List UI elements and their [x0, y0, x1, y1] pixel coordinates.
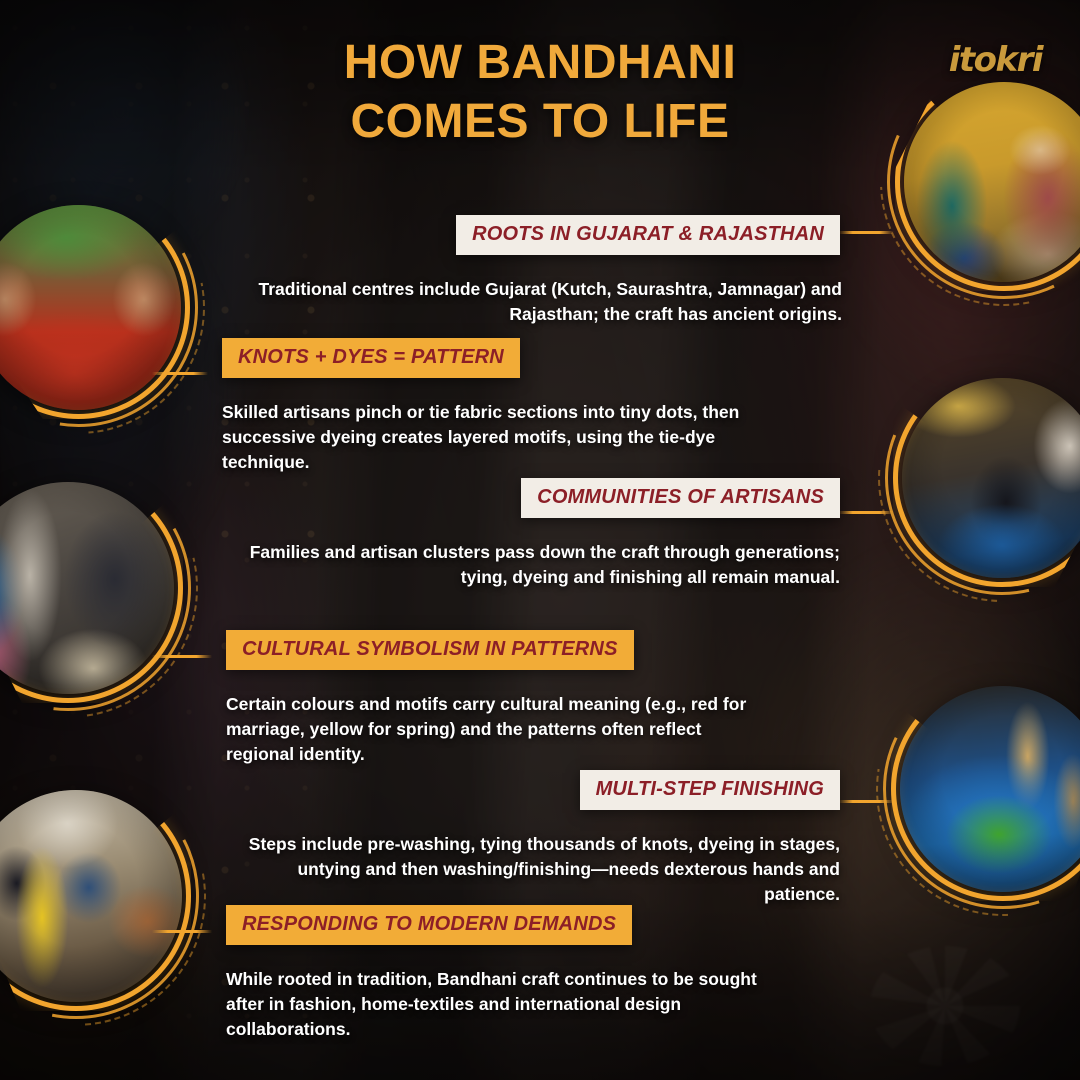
photo-disc — [902, 378, 1080, 578]
section-responding-to-modern-demands: RESPONDING TO MODERN DEMANDS While roote… — [226, 905, 786, 1042]
photo-shade — [0, 205, 181, 410]
photo-circle-finishing — [900, 686, 1080, 892]
itokri-logo[interactable]: itokri — [949, 40, 1042, 80]
photo-circle-communities — [902, 378, 1080, 578]
photo-circle-modern-demands — [0, 790, 182, 1002]
connector-line-knots — [152, 372, 208, 375]
section-heading-bar[interactable]: KNOTS + DYES = PATTERN — [222, 338, 520, 378]
section-heading-bar[interactable]: RESPONDING TO MODERN DEMANDS — [226, 905, 632, 945]
section-body-text: Skilled artisans pinch or tie fabric sec… — [222, 400, 752, 475]
photo-shade — [0, 482, 174, 694]
section-multi-step-finishing: MULTI-STEP FINISHING Steps include pre-w… — [240, 770, 840, 907]
photo-shade — [902, 378, 1080, 578]
photo-circle-knots — [0, 205, 181, 410]
section-heading-bar[interactable]: COMMUNITIES OF ARTISANS — [521, 478, 840, 518]
section-body-text: Steps include pre-washing, tying thousan… — [240, 832, 840, 907]
photo-disc — [904, 82, 1080, 282]
connector-line-communities — [838, 511, 894, 514]
photo-disc — [0, 205, 181, 410]
section-heading-bar[interactable]: CULTURAL SYMBOLISM IN PATTERNS — [226, 630, 634, 670]
section-cultural-symbolism-in-patterns: CULTURAL SYMBOLISM IN PATTERNS Certain c… — [226, 630, 766, 767]
section-heading-bar[interactable]: MULTI-STEP FINISHING — [580, 770, 840, 810]
section-heading-bar[interactable]: ROOTS IN GUJARAT & RAJASTHAN — [456, 215, 840, 255]
section-body-text: Certain colours and motifs carry cultura… — [226, 692, 766, 767]
photo-circle-roots — [904, 82, 1080, 282]
section-knots-dyes-pattern: KNOTS + DYES = PATTERN Skilled artisans … — [222, 338, 752, 475]
photo-shade — [0, 790, 182, 1002]
photo-shade — [900, 686, 1080, 892]
photo-circle-symbolism — [0, 482, 174, 694]
connector-line-modern-demands — [152, 930, 212, 933]
section-roots-in-gujarat-rajasthan: ROOTS IN GUJARAT & RAJASTHAN Traditional… — [240, 215, 840, 327]
connector-line-roots — [838, 231, 894, 234]
connector-line-symbolism — [152, 655, 212, 658]
section-communities-of-artisans: COMMUNITIES OF ARTISANS Families and art… — [240, 478, 840, 590]
photo-disc — [900, 686, 1080, 892]
section-body-text: While rooted in tradition, Bandhani craf… — [226, 967, 786, 1042]
section-body-text: Traditional centres include Gujarat (Kut… — [240, 277, 842, 327]
section-body-text: Families and artisan clusters pass down … — [240, 540, 840, 590]
photo-shade — [904, 82, 1080, 282]
connector-line-finishing — [838, 800, 894, 803]
photo-disc — [0, 790, 182, 1002]
photo-disc — [0, 482, 174, 694]
